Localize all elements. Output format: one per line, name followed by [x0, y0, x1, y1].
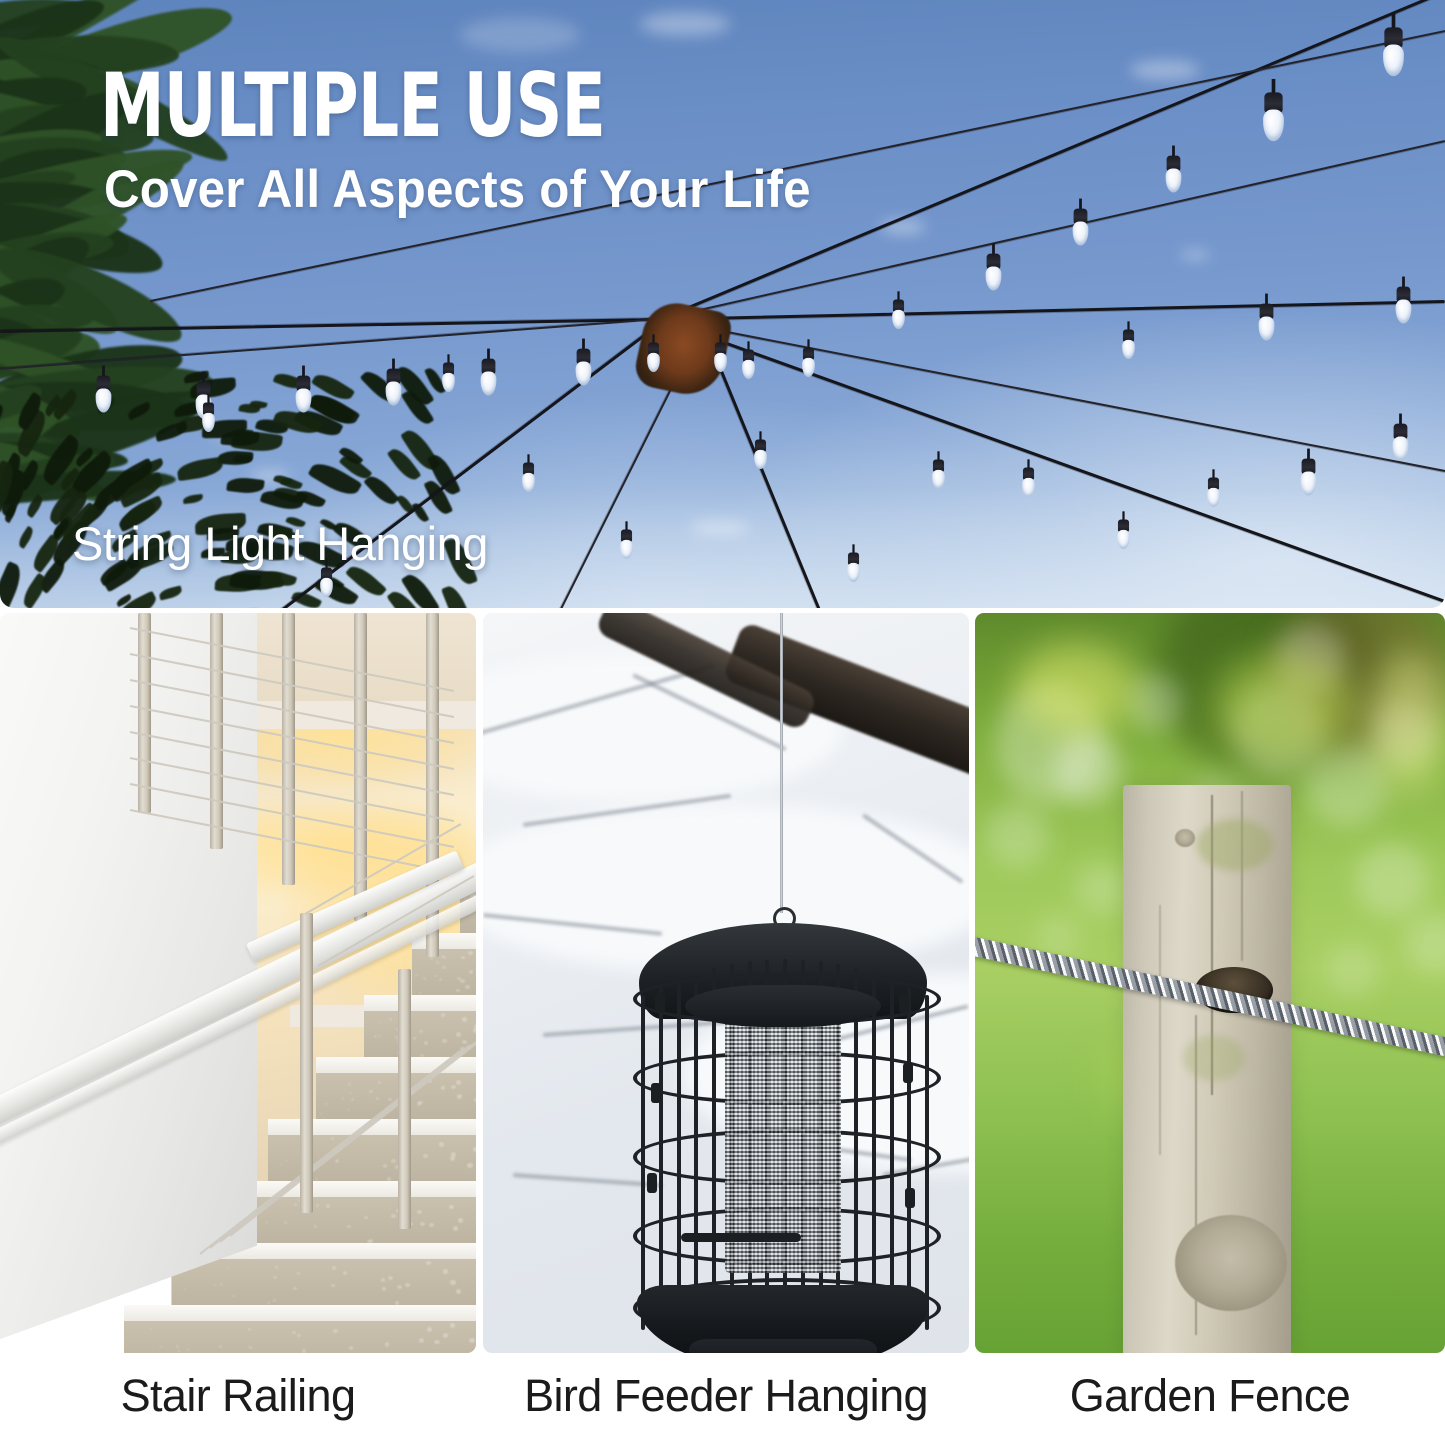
shrub-leaf [0, 561, 26, 608]
panel-bird-feeder [483, 613, 969, 1353]
panel-stair-railing [0, 613, 476, 1353]
step-tread [364, 995, 476, 1011]
light-bulb [522, 461, 535, 495]
post-knot-large [1175, 1215, 1287, 1311]
multiple-use-infographic: MULTIPLE USE Cover All Aspects of Your L… [0, 0, 1445, 1445]
hanging-wire [780, 613, 783, 913]
hero-caption: String Light Hanging [72, 520, 488, 567]
cage-clip [647, 1173, 657, 1193]
light-bulb [620, 528, 633, 562]
light-bulb [1396, 285, 1412, 327]
caption-row: Stair Railing Bird Feeder Hanging Garden… [0, 1353, 1445, 1445]
light-bulb [932, 458, 945, 492]
shrub-leaf [183, 494, 204, 505]
railing-post [354, 613, 367, 921]
cloud [640, 12, 730, 36]
cage-clip [905, 1188, 915, 1208]
shrub-leaf [154, 421, 190, 442]
railing-post-near [300, 913, 313, 1213]
light-bulb [714, 341, 727, 375]
railing-post [210, 613, 223, 849]
shrub-leaf [176, 457, 224, 481]
panel-garden-fence [975, 613, 1445, 1353]
post-knot-small [1175, 829, 1195, 847]
feeder-base-bowl [689, 1339, 877, 1353]
light-bulb [986, 252, 1002, 294]
foliage-highlight [1215, 653, 1355, 763]
light-bulb [847, 551, 860, 585]
light-bulb [1263, 90, 1284, 146]
cage-clip [655, 993, 665, 1013]
shrub-leaf [226, 476, 265, 495]
light-bulb [754, 438, 767, 472]
wooden-fence-post [1123, 785, 1291, 1353]
page-subtitle: Cover All Aspects of Your Life [104, 163, 811, 216]
bokeh-spot [1075, 863, 1127, 915]
light-bulb [481, 357, 497, 399]
hero-string-light-panel: MULTIPLE USE Cover All Aspects of Your L… [0, 0, 1445, 608]
shrub-leaf [158, 585, 183, 600]
step-tread [124, 1305, 476, 1321]
bokeh-spot [1325, 943, 1379, 997]
shrub-leaf [0, 405, 6, 423]
caption-garden-fence: Garden Fence [975, 1361, 1445, 1431]
feeder-top-plate [685, 985, 881, 1027]
cloud [1180, 250, 1210, 260]
railing-post-near [398, 969, 411, 1229]
step-tread [220, 1181, 476, 1197]
step-riser [172, 1259, 476, 1305]
light-bulb [802, 346, 815, 380]
shrub-leaf [126, 402, 151, 420]
light-bulb [386, 367, 402, 409]
light-bulb [1301, 457, 1317, 499]
foliage-highlight [1015, 643, 1135, 733]
cage-clip [899, 993, 909, 1013]
railing-post [282, 613, 295, 885]
foliage-highlight [1370, 653, 1445, 793]
cloud [690, 520, 750, 536]
light-bulb [96, 374, 112, 416]
bokeh-spot [985, 803, 1049, 867]
caption-bird-feeder: Bird Feeder Hanging [483, 1361, 969, 1431]
page-title: MULTIPLE USE [100, 62, 605, 150]
step-riser [124, 1321, 476, 1353]
shrub-leaf [24, 493, 45, 518]
light-bulb [1117, 518, 1130, 552]
light-bulb [647, 341, 660, 375]
cloud [1130, 60, 1200, 80]
light-bulb [296, 374, 312, 416]
cloud [460, 18, 580, 52]
light-bulb [1259, 302, 1275, 344]
step-riser [220, 1197, 476, 1243]
light-bulb [1022, 466, 1035, 500]
step-riser [316, 1073, 476, 1119]
cage-clip [651, 1083, 661, 1103]
light-bulb [442, 361, 455, 395]
shrub-leaf [16, 526, 35, 549]
light-bulb [1166, 154, 1182, 196]
light-bulb [1073, 207, 1089, 249]
light-bulb [202, 401, 215, 435]
feeder-perch [681, 1233, 801, 1242]
light-bulb [892, 298, 905, 332]
bokeh-spot [1355, 843, 1429, 917]
caption-stair-railing: Stair Railing [0, 1361, 476, 1431]
shrub-leaf [243, 606, 273, 608]
light-bulb [576, 347, 592, 389]
cage-clip [903, 1063, 913, 1083]
light-bulb [1122, 328, 1135, 362]
light-bulb [1393, 422, 1409, 464]
shrub-leaf [364, 471, 400, 508]
light-bulb [320, 566, 333, 600]
light-bulb [1383, 25, 1404, 81]
railing-post [138, 613, 151, 813]
bokeh-spot [1053, 733, 1123, 803]
light-bulb [1207, 476, 1220, 510]
light-bulb [742, 348, 755, 382]
